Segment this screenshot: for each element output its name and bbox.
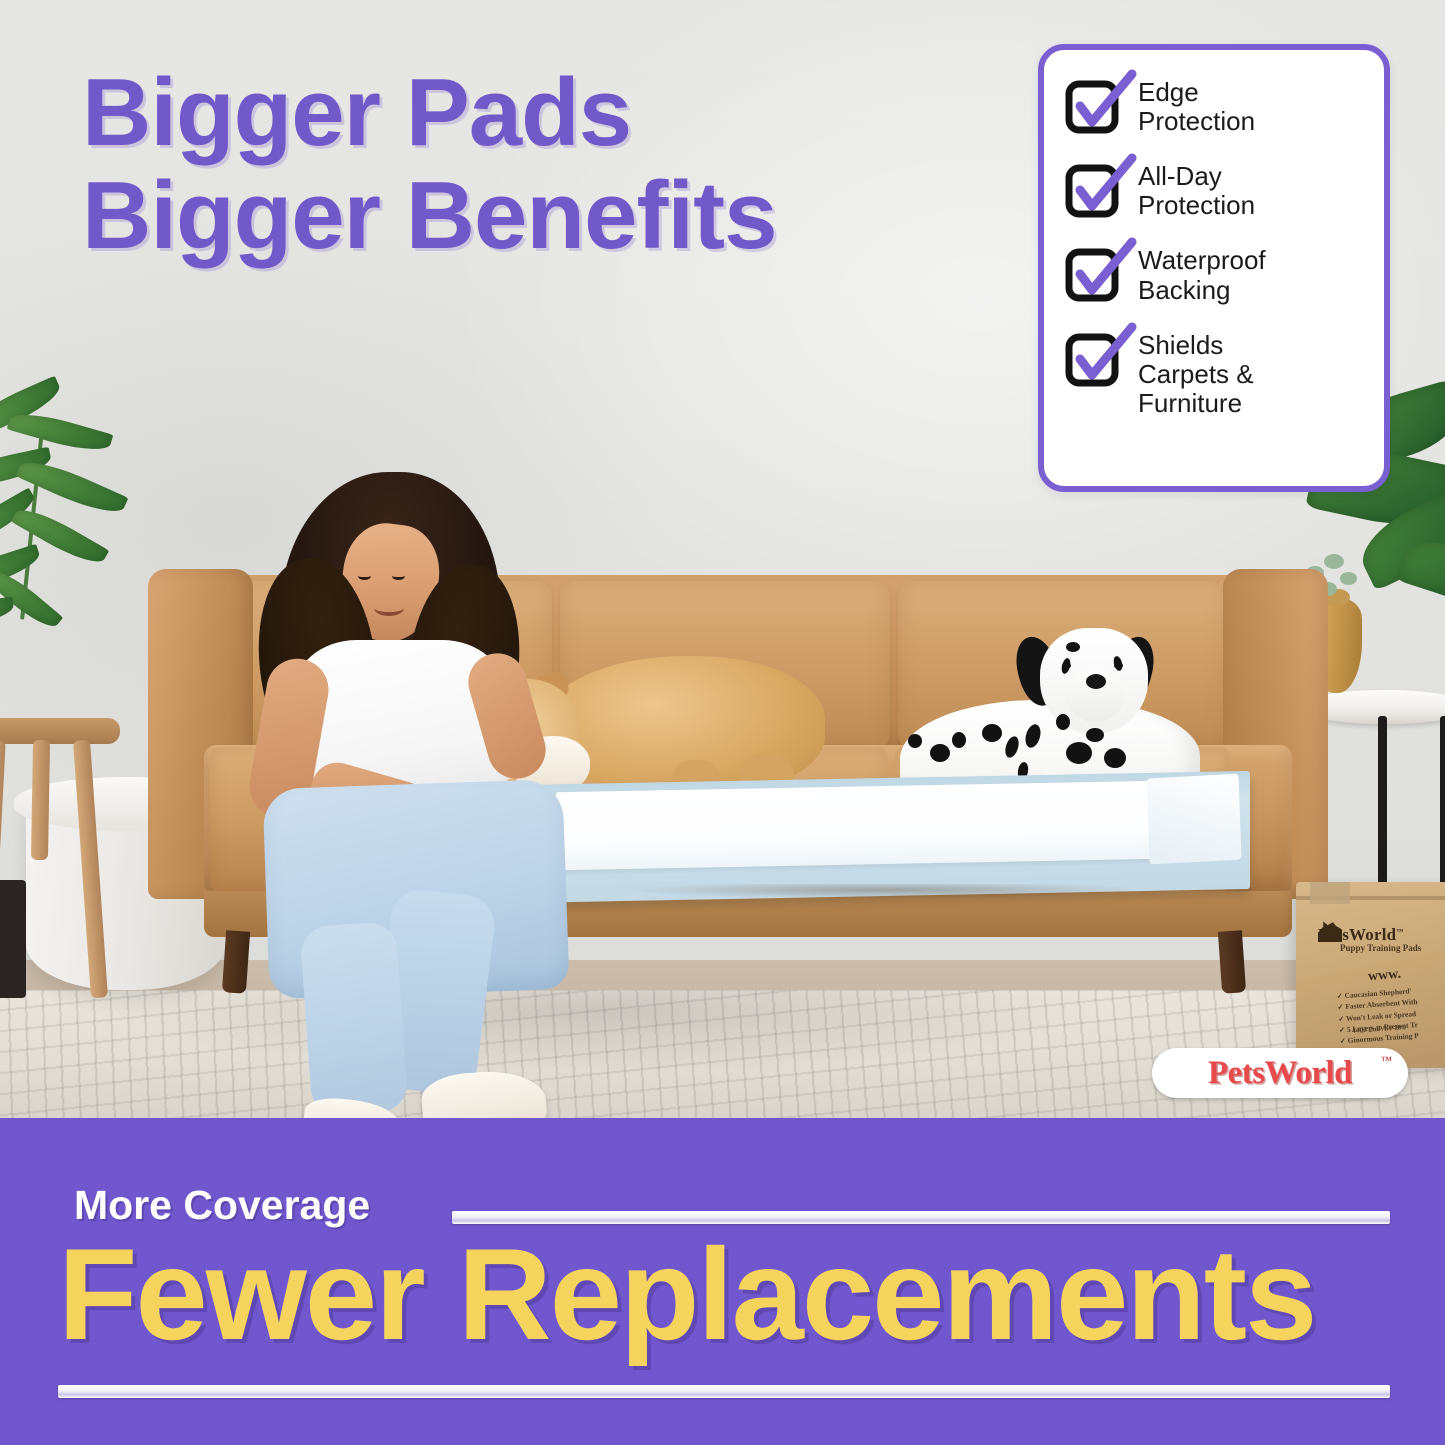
benefits-card: Edge Protection All-Day Protection [1038,44,1390,492]
benefit-item-shields-carpets-furniture: Shields Carpets & Furniture [1066,329,1366,418]
carton-website: www. [1367,967,1401,986]
banner-divider-bottom [58,1385,1390,1398]
benefit-label-line: Furniture [1138,388,1242,418]
benefit-label: All-Day Protection [1138,160,1255,220]
cardboard-carton: PetsWorld™ Puppy Training Pads www. ✓ Ca… [1296,882,1445,1068]
eucalyptus-leaf [1340,572,1357,585]
checkbox-checked-icon [1066,246,1122,298]
dark-basket [0,880,26,998]
woman [232,472,662,1112]
carton-brand: PetsWorld™ [1318,926,1436,943]
carton-subtitle: Puppy Training Pads [1340,944,1445,953]
benefit-item-edge-protection: Edge Protection [1066,76,1366,136]
benefit-label-line: Carpets & [1138,359,1254,389]
petsworld-logo-tm: ™ [1381,1055,1392,1067]
benefit-label-line: All-Day [1138,161,1222,191]
petsworld-logo-text: PetsWorld [1208,1055,1352,1092]
carton-bullets: ✓ Caucasian Shepherd' ✓ Faster Absorbent… [1336,982,1445,1047]
benefit-label: Edge Protection [1138,76,1255,136]
benefit-label-line: Waterproof [1138,245,1266,275]
petsworld-logo-badge: PetsWorld ™ [1152,1048,1408,1098]
checkbox-checked-icon [1066,78,1122,130]
benefit-label-line: Edge [1138,77,1199,107]
product-infographic: PetsWorld™ Puppy Training Pads www. ✓ Ca… [0,0,1445,1445]
benefit-label-line: Shields [1138,330,1223,360]
benefit-label-line: Protection [1138,106,1255,136]
headline-line-2: Bigger Benefits [82,165,942,268]
page-title: Bigger Pads Bigger Benefits [82,62,942,267]
benefit-item-waterproof-backing: Waterproof Backing [1066,244,1366,304]
benefit-label-line: Backing [1138,275,1231,305]
benefit-label: Waterproof Backing [1138,244,1266,304]
benefit-label: Shields Carpets & Furniture [1138,329,1254,418]
benefit-item-all-day-protection: All-Day Protection [1066,160,1366,220]
banner-headline: Fewer Replacements [58,1229,1398,1359]
benefit-label-line: Protection [1138,190,1255,220]
headline-line-1: Bigger Pads [82,62,942,165]
checkbox-checked-icon [1066,162,1122,214]
eucalyptus-leaf [1324,554,1344,569]
carton-brand-text: PetsWorld [1318,925,1396,944]
carton-brand-tm: ™ [1396,927,1403,935]
checkbox-checked-icon [1066,331,1122,383]
